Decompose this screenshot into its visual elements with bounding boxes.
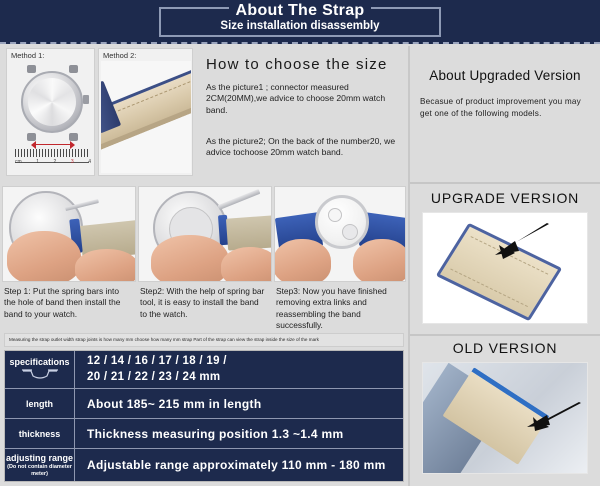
tan-strap <box>226 215 272 250</box>
steps-caption-row: Step 1: Put the spring bars into the hol… <box>2 286 406 330</box>
subdial <box>328 208 342 222</box>
about-upgraded-title: About Upgraded Version <box>420 68 590 83</box>
ruler-tick-1: 1 <box>36 159 39 165</box>
pointer-arrow-icon <box>519 401 585 437</box>
steps-photo-row <box>2 186 406 284</box>
how-to-paragraph-2: As the picture2; On the back of the numb… <box>206 136 398 159</box>
ruler-tick-2: 2 <box>54 159 57 165</box>
spec-sizes-line-2: 20 / 21 / 22 / 23 / 24 mm <box>87 370 227 386</box>
old-version-photo <box>422 362 588 474</box>
pointer-arrow-icon <box>485 221 553 263</box>
spec-key-label: adjusting range <box>6 453 73 463</box>
spec-key-label: specifications <box>9 357 69 367</box>
watch-lug-icon <box>20 369 60 382</box>
ruler-tick-3: 3 <box>71 159 74 165</box>
table-row: thickness Thickness measuring position 1… <box>5 419 403 449</box>
divider <box>410 182 600 184</box>
upgrade-version-title: UPGRADE VERSION <box>410 186 600 206</box>
spec-value-length: About 185~ 215 mm in length <box>75 389 403 418</box>
finger <box>75 249 136 282</box>
spec-key-sublabel: (Do not contain diameter meter) <box>6 464 73 476</box>
watch-lug-icon <box>27 133 36 141</box>
spec-key-adjusting-range: adjusting range (Do not contain diameter… <box>5 449 75 481</box>
watch-case-illustration <box>21 71 83 133</box>
page-subtitle: Size installation disassembly <box>159 20 441 32</box>
step-3-photo <box>274 186 406 282</box>
table-row: adjusting range (Do not contain diameter… <box>5 449 403 481</box>
ruler-tick-4: 4 <box>88 159 91 165</box>
finger <box>353 239 406 282</box>
old-version-title: OLD VERSION <box>410 336 600 356</box>
spring-bar-tool-icon <box>218 189 261 210</box>
watch-face <box>28 78 76 126</box>
step-3-caption: Step3: Now you have finished removing ex… <box>276 286 406 331</box>
finger <box>274 239 331 282</box>
left-column: Method 1: cm 1 2 3 4 <box>0 46 408 486</box>
step-1-caption: Step 1: Put the spring bars into the hol… <box>4 286 132 320</box>
page-title-text: About The Strap <box>229 2 372 19</box>
about-upgraded-body: Becasue of product improvement you may g… <box>420 96 590 119</box>
watch-lug-icon <box>69 65 78 73</box>
step-2-caption: Step2: With the help of spring bar tool,… <box>140 286 268 320</box>
strap-band-illustration <box>101 64 191 149</box>
how-to-choose-panel: How to choose the size As the picture1 ;… <box>198 50 406 182</box>
about-upgraded-version-panel: About Upgraded Version Becasue of produc… <box>410 46 600 182</box>
spec-value-specifications: 12 / 14 / 16 / 17 / 18 / 19 / 20 / 21 / … <box>75 351 403 388</box>
old-version-panel: OLD VERSION <box>410 336 600 486</box>
ruler-labels: cm 1 2 3 4 <box>15 159 91 165</box>
table-row: length About 185~ 215 mm in length <box>5 389 403 419</box>
step-2-photo <box>138 186 272 282</box>
methods-row: Method 1: cm 1 2 3 4 <box>2 48 406 182</box>
finger <box>151 235 229 282</box>
specifications-table: specifications 12 / 14 / 16 / 17 / 18 / … <box>4 350 404 482</box>
watch-dial <box>315 195 369 249</box>
upgrade-version-panel: UPGRADE VERSION <box>410 186 600 334</box>
page-header: About The Strap Size installation disass… <box>0 0 600 44</box>
right-column: About Upgraded Version Becasue of produc… <box>408 46 600 486</box>
how-to-paragraph-1: As the picture1 ; connector measured 2CM… <box>206 82 398 116</box>
ruler-tick-cm: cm <box>15 159 22 165</box>
spec-key-length: length <box>5 389 75 418</box>
spec-key-specifications: specifications <box>5 351 75 388</box>
spec-value-thickness: Thickness measuring position 1.3 ~1.4 mm <box>75 419 403 448</box>
page-title: About The Strap <box>159 2 441 20</box>
measure-arrow-icon <box>31 141 75 149</box>
spec-value-adjusting-range: Adjustable range approximately 110 mm - … <box>75 449 403 481</box>
method-1-label: Method 1: <box>11 51 44 60</box>
product-infographic: About The Strap Size installation disass… <box>0 0 600 486</box>
strap-backside-photo <box>101 61 191 173</box>
watch-lug-icon <box>69 133 78 141</box>
finger <box>7 231 81 282</box>
watch-lug-icon <box>27 65 36 73</box>
table-row: specifications 12 / 14 / 16 / 17 / 18 / … <box>5 351 403 389</box>
step-1-photo <box>2 186 136 282</box>
upgrade-version-photo <box>422 212 588 324</box>
subdial <box>342 224 358 240</box>
measuring-note: Measuring the strap outlet width strap j… <box>4 333 404 347</box>
how-to-choose-title: How to choose the size <box>206 56 398 73</box>
watch-crown-icon <box>83 95 89 104</box>
method-2-label: Method 2: <box>103 51 136 60</box>
spec-key-thickness: thickness <box>5 419 75 448</box>
spec-sizes-line-1: 12 / 14 / 16 / 17 / 18 / 19 / <box>87 354 227 370</box>
method-1-figure: Method 1: cm 1 2 3 4 <box>6 48 95 176</box>
finger <box>221 247 272 282</box>
method-2-figure: Method 2: <box>98 48 193 176</box>
